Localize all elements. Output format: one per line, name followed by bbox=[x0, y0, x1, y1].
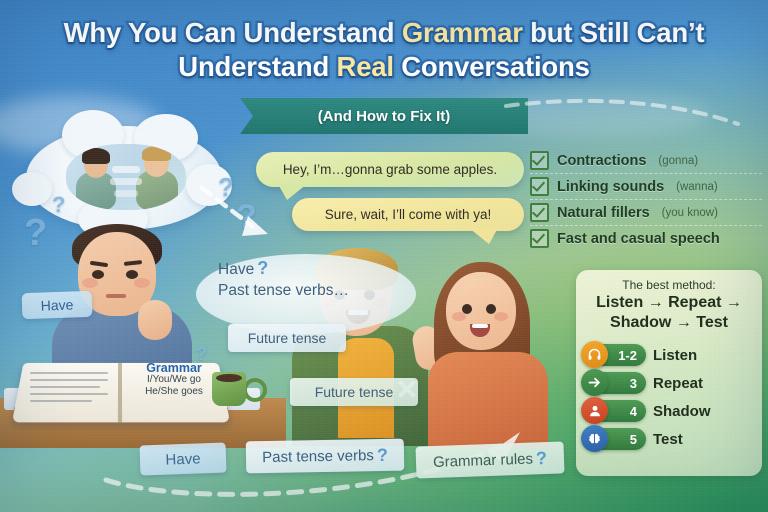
method-flow-line-2: Shadow → Test bbox=[584, 313, 754, 333]
step-label: Listen bbox=[653, 347, 697, 364]
book-page-text: Grammar I/You/We go He/She goes bbox=[124, 362, 224, 398]
question-mark-icon: ? bbox=[236, 198, 257, 237]
title-text: Why You Can Understand bbox=[64, 17, 402, 48]
infographic-poster: ? ? ? ? ? ? Grammar I/You/We go He/She g… bbox=[0, 0, 768, 512]
step-pill: 1-2 bbox=[584, 344, 646, 366]
question-mark-icon: ? bbox=[24, 212, 47, 255]
tag-label: Future tense bbox=[248, 330, 327, 346]
brain-icon bbox=[581, 425, 608, 452]
question-mark-icon: ? bbox=[218, 172, 234, 203]
book-line-1: I/You/We go bbox=[147, 374, 201, 385]
title-highlight-grammar: Grammar bbox=[402, 17, 523, 48]
method-step-listen[interactable]: 1-2 Listen bbox=[584, 341, 754, 369]
step-number: 4 bbox=[630, 404, 637, 419]
sound-dot bbox=[437, 317, 449, 329]
title-text: Conversations bbox=[394, 51, 590, 82]
question-mark-icon: ? bbox=[536, 448, 548, 469]
tag-future-tense-1: Future tense bbox=[228, 324, 346, 352]
mug-handle bbox=[243, 378, 267, 402]
checklist-item-linking-sounds[interactable]: Linking sounds (wanna) bbox=[530, 173, 762, 199]
coffee-surface bbox=[216, 374, 242, 382]
method-steps: 1-2 Listen 3 Repeat bbox=[584, 341, 754, 453]
tag-label: Have bbox=[165, 450, 201, 468]
title-text: Understand bbox=[178, 51, 336, 82]
sound-dot bbox=[443, 331, 453, 341]
book-cover bbox=[14, 406, 228, 420]
speech-bubble-boy: Hey, I’m…gonna grab some apples. bbox=[256, 152, 524, 187]
checklist-label: Natural fillers bbox=[557, 205, 650, 221]
method-step-test[interactable]: 5 Test bbox=[584, 425, 754, 453]
confusion-cloud bbox=[196, 254, 416, 334]
paper-stack bbox=[4, 388, 260, 410]
speech-bubble-boy-text: Hey, I’m…gonna grab some apples. bbox=[283, 162, 497, 177]
method-heading: The best method: bbox=[584, 278, 754, 292]
thought-bubble-tail bbox=[126, 240, 137, 249]
tag-future-tense-2: Future tense bbox=[290, 378, 418, 406]
dashed-arrow-top-right bbox=[500, 94, 750, 154]
step-label: Repeat bbox=[653, 375, 703, 392]
method-flow-line-1: Listen → Repeat → bbox=[584, 293, 754, 313]
coffee-mug bbox=[212, 372, 246, 406]
question-mark-icon: ? bbox=[377, 444, 388, 465]
tag-label: Past tense verbs bbox=[262, 447, 374, 466]
checkbox-checked-icon[interactable] bbox=[530, 151, 549, 170]
checklist-label: Fast and casual speech bbox=[557, 231, 720, 247]
question-mark-icon: ? bbox=[52, 192, 65, 218]
tag-have-bottom: Have bbox=[140, 443, 227, 476]
tag-have-left: Have bbox=[22, 291, 93, 319]
speaker-girl-hair bbox=[434, 262, 530, 390]
subtitle-banner: (And How to Fix It) bbox=[240, 98, 528, 134]
cloud-decoration bbox=[0, 96, 160, 154]
checklist-note: (wanna) bbox=[676, 181, 718, 193]
speech-bubble-girl-text: Sure, wait, I’ll come with ya! bbox=[325, 207, 492, 222]
title-highlight-real: Real bbox=[337, 51, 394, 82]
tag-grammar-rules: Grammar rules? bbox=[415, 441, 564, 478]
student-hand bbox=[138, 300, 172, 340]
checklist-label: Linking sounds bbox=[557, 179, 664, 195]
checklist-item-natural-fillers[interactable]: Natural fillers (you know) bbox=[530, 199, 762, 225]
step-pill: 5 bbox=[584, 428, 646, 450]
method-flow: Listen → Repeat → Shadow → Test bbox=[584, 293, 754, 333]
checkbox-checked-icon[interactable] bbox=[530, 177, 549, 196]
title-line-1: Why You Can Understand Grammar but Still… bbox=[0, 16, 768, 50]
checkbox-checked-icon[interactable] bbox=[530, 229, 549, 248]
speaker-girl-face bbox=[452, 278, 508, 348]
book-line-2: He/She goes bbox=[145, 386, 203, 397]
method-step-repeat[interactable]: 3 Repeat bbox=[584, 369, 754, 397]
features-checklist: Contractions (gonna) Linking sounds (wan… bbox=[530, 148, 762, 251]
step-pill: 3 bbox=[584, 372, 646, 394]
checklist-item-contractions[interactable]: Contractions (gonna) bbox=[530, 148, 762, 173]
tag-label: Have bbox=[40, 296, 73, 313]
speaker-boy-hair bbox=[316, 248, 398, 290]
dashed-arrow-left bbox=[196, 182, 286, 254]
tag-past-tense-line: Past tense verbs… bbox=[218, 282, 349, 299]
checklist-note: (gonna) bbox=[658, 155, 698, 167]
speaker-girl-body bbox=[428, 352, 548, 448]
person-icon bbox=[581, 397, 608, 424]
book-title: Grammar bbox=[124, 362, 224, 374]
checkbox-checked-icon[interactable] bbox=[530, 203, 549, 222]
tag-have-line: Have bbox=[218, 261, 254, 278]
checklist-label: Contractions bbox=[557, 153, 646, 169]
arrow-right-icon bbox=[581, 369, 608, 396]
step-pill: 4 bbox=[584, 400, 646, 422]
step-number: 1-2 bbox=[618, 348, 637, 363]
imagined-conversation-scene bbox=[66, 144, 186, 210]
thought-bubble bbox=[26, 126, 222, 230]
tag-grammar-thoughts: Have? Past tense verbs… bbox=[218, 258, 398, 301]
title-line-2: Understand Real Conversations bbox=[0, 50, 768, 84]
step-label: Shadow bbox=[653, 403, 711, 420]
student-body bbox=[52, 306, 192, 406]
page-title: Why You Can Understand Grammar but Still… bbox=[0, 16, 768, 84]
tag-past-tense-verbs: Past tense verbs? bbox=[246, 439, 405, 474]
speaker-girl-head bbox=[446, 272, 516, 350]
question-mark-icon: ? bbox=[196, 344, 207, 365]
step-label: Test bbox=[653, 431, 683, 448]
checklist-note: (you know) bbox=[662, 207, 718, 219]
thought-bubble-tail bbox=[108, 226, 126, 240]
step-number: 5 bbox=[630, 432, 637, 447]
best-method-card: The best method: Listen → Repeat → Shado… bbox=[576, 270, 762, 476]
title-text: but Still Can’t bbox=[523, 17, 705, 48]
subtitle-text: (And How to Fix It) bbox=[318, 108, 450, 125]
tag-label: Grammar rules bbox=[433, 450, 534, 470]
headphones-icon bbox=[581, 341, 608, 368]
step-number: 3 bbox=[630, 376, 637, 391]
desk bbox=[0, 398, 286, 448]
question-mark-icon: ? bbox=[257, 258, 268, 278]
question-mark-icon: ? bbox=[168, 328, 186, 362]
checklist-item-fast-casual-speech[interactable]: Fast and casual speech bbox=[530, 225, 762, 251]
speech-bubble-girl: Sure, wait, I’ll come with ya! bbox=[292, 198, 524, 231]
tag-label: Future tense bbox=[315, 384, 394, 400]
student-hair bbox=[72, 224, 162, 272]
pointing-hand bbox=[410, 324, 445, 372]
method-step-shadow[interactable]: 4 Shadow bbox=[584, 397, 754, 425]
book-spine bbox=[118, 363, 122, 423]
